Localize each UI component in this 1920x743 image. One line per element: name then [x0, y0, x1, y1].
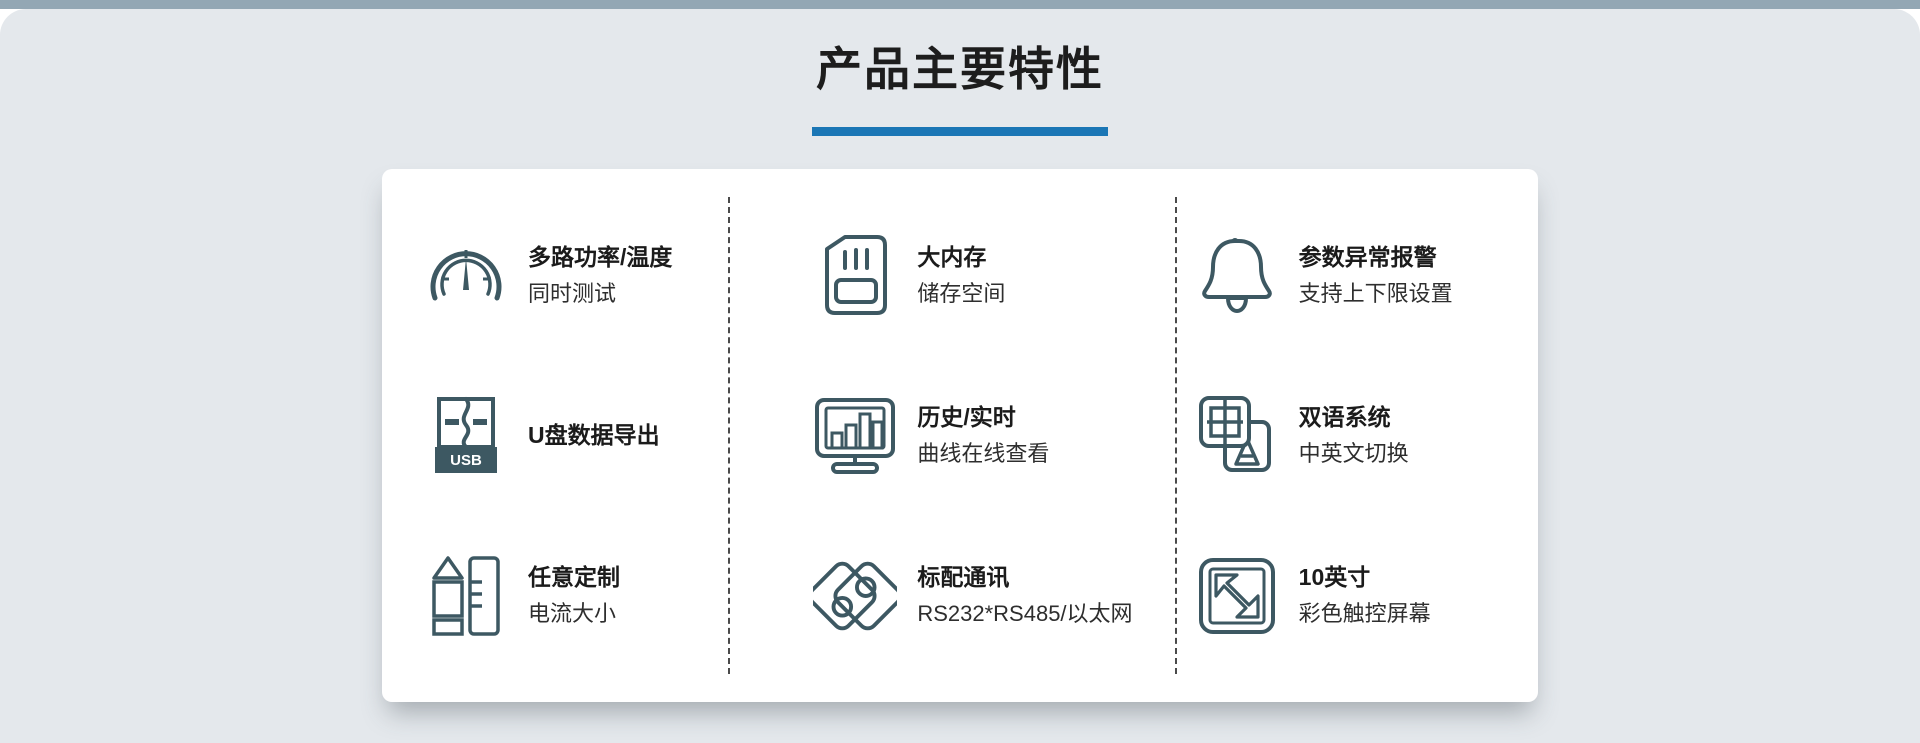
- feature-text: 参数异常报警 支持上下限设置: [1299, 241, 1453, 310]
- feature-item-usb-export[interactable]: USB U盘数据导出: [382, 355, 767, 515]
- feature-subtitle: 中英文切换: [1299, 438, 1409, 470]
- feature-text: 双语系统 中英文切换: [1299, 401, 1409, 470]
- bell-icon: [1195, 233, 1279, 317]
- feature-title: 多路功率/温度: [528, 241, 672, 273]
- feature-title: 参数异常报警: [1299, 241, 1453, 273]
- features-grid: 多路功率/温度 同时测试: [382, 169, 1538, 702]
- memory-card-icon: [813, 233, 897, 317]
- feature-item-alarm[interactable]: 参数异常报警 支持上下限设置: [1153, 195, 1538, 355]
- feature-item-history-realtime[interactable]: 历史/实时 曲线在线查看: [767, 355, 1152, 515]
- gauge-icon: [424, 233, 508, 317]
- usb-drive-icon-label: USB: [450, 452, 482, 469]
- page-root: 产品主要特性: [0, 0, 1920, 743]
- feature-text: 大内存 储存空间: [917, 241, 1005, 310]
- network-diamonds-icon: [813, 554, 897, 638]
- usb-drive-icon: USB: [424, 393, 508, 477]
- monitor-chart-icon: [813, 393, 897, 477]
- feature-text: 多路功率/温度 同时测试: [528, 241, 672, 310]
- feature-item-large-memory[interactable]: 大内存 储存空间: [767, 195, 1152, 355]
- feature-title: U盘数据导出: [528, 419, 660, 451]
- feature-text: 历史/实时 曲线在线查看: [917, 401, 1049, 470]
- feature-text: U盘数据导出: [528, 419, 660, 451]
- pencil-ruler-icon: [424, 554, 508, 638]
- feature-title: 双语系统: [1299, 401, 1409, 433]
- feature-subtitle: 储存空间: [917, 278, 1005, 310]
- title-underline: [812, 127, 1108, 136]
- feature-title: 10英寸: [1299, 561, 1431, 593]
- feature-item-custom-current[interactable]: 任意定制 电流大小: [382, 516, 767, 676]
- feature-subtitle: 彩色触控屏幕: [1299, 598, 1431, 630]
- feature-subtitle: 电流大小: [528, 598, 620, 630]
- feature-subtitle: 同时测试: [528, 278, 672, 310]
- content-panel: 产品主要特性: [0, 9, 1920, 743]
- section-heading: 产品主要特性: [0, 39, 1920, 136]
- feature-title: 任意定制: [528, 561, 620, 593]
- features-card: 多路功率/温度 同时测试: [382, 169, 1538, 702]
- feature-item-communication[interactable]: 标配通讯 RS232*RS485/以太网: [767, 516, 1152, 676]
- feature-title: 标配通讯: [917, 561, 1132, 593]
- feature-title: 历史/实时: [917, 401, 1049, 433]
- feature-text: 10英寸 彩色触控屏幕: [1299, 561, 1431, 630]
- feature-text: 任意定制 电流大小: [528, 561, 620, 630]
- feature-item-bilingual[interactable]: 双语系统 中英文切换: [1153, 355, 1538, 515]
- feature-subtitle: 支持上下限设置: [1299, 278, 1453, 310]
- feature-subtitle: 曲线在线查看: [917, 438, 1049, 470]
- feature-text: 标配通讯 RS232*RS485/以太网: [917, 561, 1132, 630]
- page-title: 产品主要特性: [0, 39, 1920, 99]
- feature-item-screen-size[interactable]: 10英寸 彩色触控屏幕: [1153, 516, 1538, 676]
- translate-icon: [1195, 393, 1279, 477]
- diagonal-arrow-screen-icon: [1195, 554, 1279, 638]
- feature-title: 大内存: [917, 241, 1005, 273]
- feature-subtitle: RS232*RS485/以太网: [917, 598, 1132, 630]
- top-accent-bar: [0, 0, 1920, 9]
- feature-item-multi-channel-power[interactable]: 多路功率/温度 同时测试: [382, 195, 767, 355]
